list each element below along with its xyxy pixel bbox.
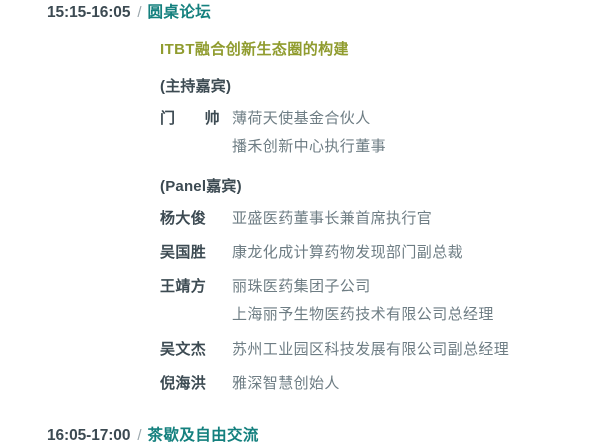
person-row: 门 帅 薄荷天使基金合伙人 播禾创新中心执行董事 <box>160 107 600 159</box>
person-role: 雅深智慧创始人 <box>232 372 600 395</box>
session-block: 15:15-16:05 / 圆桌论坛 ITBT融合创新生态圈的构建 (主持嘉宾)… <box>0 0 600 395</box>
session-separator: / <box>137 4 141 21</box>
person-row: 吴国胜 康龙化成计算药物发现部门副总裁 <box>160 241 600 264</box>
session-time: 16:05-17:00 <box>47 427 130 445</box>
guest-group-label: (Panel嘉宾) <box>160 175 600 196</box>
person-row: 杨大俊 亚盛医药董事长兼首席执行官 <box>160 207 600 230</box>
person-role: 丽珠医药集团子公司 <box>232 275 600 298</box>
person-name: 门 帅 <box>160 107 232 130</box>
guest-group-label: (主持嘉宾) <box>160 75 600 96</box>
person-roles: 亚盛医药董事长兼首席执行官 <box>232 207 600 230</box>
person-name: 吴文杰 <box>160 338 232 361</box>
person-name: 王靖方 <box>160 275 232 298</box>
person-name: 倪海洪 <box>160 372 232 395</box>
person-role: 苏州工业园区科技发展有限公司副总经理 <box>232 338 600 361</box>
person-roles: 薄荷天使基金合伙人 播禾创新中心执行董事 <box>232 107 600 159</box>
person-roles: 康龙化成计算药物发现部门副总裁 <box>232 241 600 264</box>
person-name-char: 帅 <box>205 107 220 130</box>
session-block: 16:05-17:00 / 茶歇及自由交流 <box>0 423 600 445</box>
person-name: 吴国胜 <box>160 241 232 264</box>
section-spacer <box>0 395 600 423</box>
person-role: 亚盛医药董事长兼首席执行官 <box>232 207 600 230</box>
person-role: 康龙化成计算药物发现部门副总裁 <box>232 241 600 264</box>
session-time: 15:15-16:05 <box>47 4 130 22</box>
session-header: 16:05-17:00 / 茶歇及自由交流 <box>0 423 600 445</box>
person-row: 吴文杰 苏州工业园区科技发展有限公司副总经理 <box>160 338 600 361</box>
session-title: 圆桌论坛 <box>148 0 212 22</box>
agenda-schedule: 15:15-16:05 / 圆桌论坛 ITBT融合创新生态圈的构建 (主持嘉宾)… <box>0 0 600 436</box>
session-header: 15:15-16:05 / 圆桌论坛 <box>0 0 600 22</box>
session-title: 茶歇及自由交流 <box>148 423 259 445</box>
person-role: 上海丽予生物医药技术有限公司总经理 <box>232 303 600 326</box>
person-role: 播禾创新中心执行董事 <box>232 135 600 158</box>
person-row: 倪海洪 雅深智慧创始人 <box>160 372 600 395</box>
person-role: 薄荷天使基金合伙人 <box>232 107 600 130</box>
session-body: ITBT融合创新生态圈的构建 (主持嘉宾) 门 帅 薄荷天使基金合伙人 播禾创新… <box>0 38 600 395</box>
person-name: 杨大俊 <box>160 207 232 230</box>
person-roles: 苏州工业园区科技发展有限公司副总经理 <box>232 338 600 361</box>
person-roles: 丽珠医药集团子公司 上海丽予生物医药技术有限公司总经理 <box>232 275 600 327</box>
person-roles: 雅深智慧创始人 <box>232 372 600 395</box>
session-topic: ITBT融合创新生态圈的构建 <box>160 38 600 59</box>
person-row: 王靖方 丽珠医药集团子公司 上海丽予生物医药技术有限公司总经理 <box>160 275 600 327</box>
person-name-char: 门 <box>160 107 175 130</box>
